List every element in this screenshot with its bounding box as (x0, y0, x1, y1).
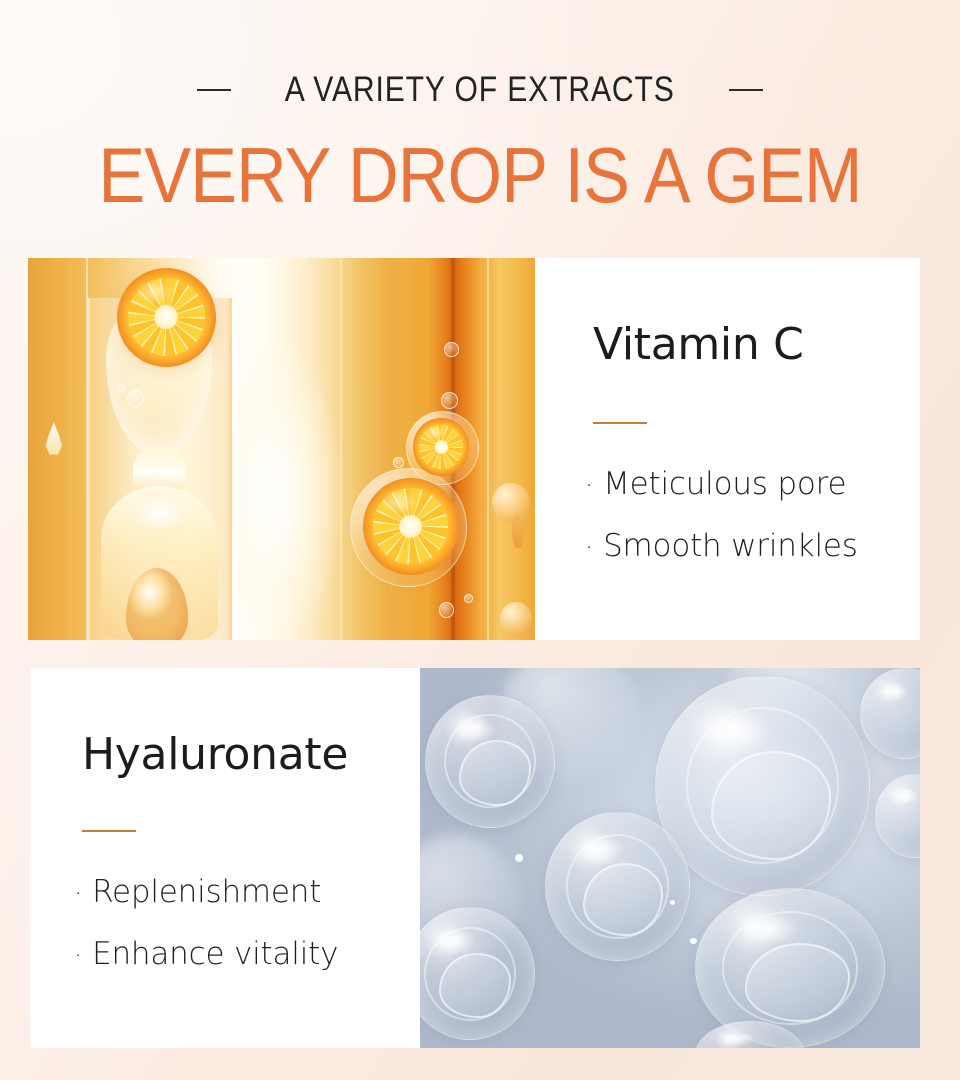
bullet-dot-icon: · (585, 456, 593, 516)
orange-core (435, 440, 448, 454)
benefit-list-hyaluronate: · Replenishment · Enhance vitality (74, 862, 338, 986)
ingredient-card-vitamin-c: Vitamin C · Meticulous pore · Smooth wri… (28, 258, 920, 640)
water-bubbles-photo (420, 668, 920, 1048)
eyebrow-heading: A VARIETY OF EXTRACTS (0, 62, 960, 118)
glass-edge-3 (340, 258, 342, 640)
bubble-speck (439, 602, 454, 618)
list-item: · Smooth wrinkles (585, 516, 858, 578)
ampoule-highlight (120, 490, 198, 538)
bullet-dot-icon: · (585, 518, 593, 578)
page-title: EVERY DROP IS A GEM (48, 132, 912, 218)
bubble-swirl (459, 740, 531, 806)
benefit-label: Enhance vitality (92, 924, 338, 984)
ingredient-title-hyaluronate: Hyaluronate (82, 730, 348, 780)
list-item: · Meticulous pore (585, 454, 858, 516)
ingredient-card-hyaluronate: Hyaluronate · Replenishment · Enhance vi… (30, 668, 920, 1048)
benefit-label: Meticulous pore (603, 454, 846, 514)
vitamin-c-text-panel: Vitamin C · Meticulous pore · Smooth wri… (535, 258, 920, 640)
bubble-speck (690, 938, 697, 944)
orange-gloss (129, 275, 180, 309)
water-bubble (545, 812, 690, 960)
dash-right-icon (729, 89, 763, 91)
water-bubble (425, 695, 555, 828)
benefit-label: Smooth wrinkles (603, 516, 858, 576)
title-underline-rule (82, 830, 136, 832)
orange-ampoule-photo (28, 258, 535, 640)
orange-slice-middle (413, 418, 469, 475)
glass-edge-2 (233, 258, 236, 640)
water-bubble (655, 676, 870, 896)
hyaluronate-text-panel: Hyaluronate · Replenishment · Enhance vi… (30, 668, 420, 1048)
orange-slice-top (117, 268, 216, 367)
glass-edge-5 (487, 258, 489, 640)
oil-blob (492, 483, 530, 521)
list-item: · Enhance vitality (74, 924, 338, 986)
orange-slice-bottom (363, 478, 459, 575)
infographic-page: A VARIETY OF EXTRACTS EVERY DROP IS A GE… (0, 0, 960, 1080)
benefit-list-vitamin-c: · Meticulous pore · Smooth wrinkles (585, 454, 858, 578)
bullet-dot-icon: · (74, 864, 82, 924)
bullet-dot-icon: · (74, 926, 82, 986)
benefit-label: Replenishment (92, 862, 321, 922)
orange-gloss (374, 485, 424, 518)
eyebrow-text: A VARIETY OF EXTRACTS (285, 70, 675, 110)
title-underline-rule (593, 422, 647, 424)
dash-left-icon (197, 89, 231, 91)
bubble-speck (670, 900, 675, 905)
ingredient-title-vitamin-c: Vitamin C (593, 320, 804, 370)
bubble-speck (515, 854, 523, 862)
list-item: · Replenishment (74, 862, 338, 924)
